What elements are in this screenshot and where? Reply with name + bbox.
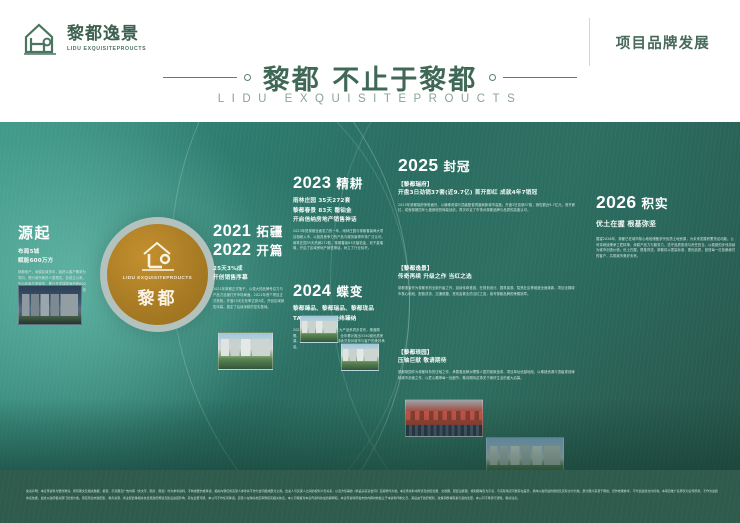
milestone-origin-sub: 布局5城 赋能600万方 [18,248,88,266]
milestone-2025-word: 封冠 [444,159,471,174]
page-footer: 免责声明：本宣传资料为要约邀请，所有图文及相关数据、模型、示意图及广告内容（含文… [0,470,740,523]
page-header: 黎都逸景 LIDU EXQUISITEPROUCTS 项目品牌发展 黎都 不止于… [0,0,740,122]
title-dot-right [489,74,496,81]
milestone-2022-word: 开篇 [256,243,283,258]
emblem-english-name: LIDU EXQUISITEPROUCTS [123,275,192,280]
photo-thumbnail [405,399,483,437]
photo-thumbnail [218,332,273,370]
milestone-2025-sub-2: 传奇再续 升级之作 当红之选 [398,273,578,282]
photo-thumbnail [300,315,338,343]
board-bottom-fade [0,398,740,470]
milestone-2025-tag-1: 【黎都瑞府】 [398,180,578,188]
milestone-2023-head: 2023精耕 [293,174,385,193]
center-emblem: LIDU EXQUISITEPROUCTS 黎都 [100,217,215,332]
milestone-2026-word: 积实 [642,196,669,211]
milestone-2025-body-2: 黎都逸景作为黎都系的全新升级之作，延续传奇基因，在规划设计、园林景观、智慧社区等… [398,286,578,298]
milestone-2023-word: 精耕 [336,176,363,191]
milestone-2025-head: 2025封冠 [398,155,578,176]
milestone-2022-year: 2022 [213,241,251,260]
milestone-2021-sub: 25天3%成 开创销售序幕 [213,265,285,283]
milestone-2026: 2026积实 优土在握 根基弥坚 展望2026年，黎都已在城市核心地段储备多宗优… [596,192,736,260]
title-dot-left [244,74,251,81]
timeline-board: LIDU EXQUISITEPROUCTS 黎都 源起 布局5城 赋能600万方… [0,122,740,470]
milestone-2026-year: 2026 [596,192,637,212]
photo-thumbnail [18,285,82,325]
brand-logo[interactable]: 黎都逸景 LIDU EXQUISITEPROUCTS [22,22,146,56]
emblem-disc: LIDU EXQUISITEPROUCTS 黎都 [107,224,208,325]
title-rule-right [503,77,577,78]
milestone-origin-title: 源起 [18,222,88,243]
milestone-2023-body: 2023年是黎都全面发力的一年，雨林庄园与黎都春景两大项目相继入市，以极具竞争力… [293,229,385,252]
page-subtitle: LIDU EXQUISITEPROUCTS [0,93,740,105]
brand-name-en: LIDU EXQUISITEPROUCTS [67,47,146,52]
milestone-2023: 2023精耕 雨林庄园 35天272套 黎都春景 83天 罄铂金 开启信纳房地产… [293,174,385,252]
title-rule-left [163,77,237,78]
milestone-2026-sub: 优土在握 根基弥坚 [596,219,736,231]
milestone-2025-body-3: 黎都琅园作为黎都体系的压轴之作，承载着品牌对理想人居的极致追求。项目择址优越地段… [398,370,578,382]
photo-thumbnail [486,437,564,470]
milestone-2021-year: 2021 [213,222,251,241]
emblem-house-icon [138,240,178,272]
milestone-2025-sub-3: 压轴巨献 敬请期待 [398,357,578,366]
brand-name-cn: 黎都逸景 [67,26,146,43]
milestone-2025-tag-3: 【黎都琅园】 [398,348,578,356]
photo-thumbnail [341,343,379,371]
milestone-2021-head: 2021拓疆 [213,222,285,241]
house-logo-icon [22,22,58,56]
milestone-2024-word: 蝶变 [336,284,363,299]
milestone-2021-word: 拓疆 [256,224,283,239]
milestone-2026-head: 2026积实 [596,192,736,213]
milestone-2022-head: 2022开篇 [213,241,285,260]
emblem-chinese-name: 黎都 [138,284,178,309]
milestone-2026-body: 展望2026年，黎都已在城市核心地段储备多宗优质土地资源，为未来发展积蓄充足动能… [596,237,736,260]
milestone-2021-body: 2021年黎都正式落子，以强大的品牌号召力与产品力迅速打开市场局面。2022年首… [213,287,285,310]
legal-disclaimer: 免责声明：本宣传资料为要约邀请，所有图文及相关数据、模型、示意图及广告内容（含文… [26,488,718,502]
header-section-label: 项目品牌发展 [616,32,710,53]
milestone-2025-sub-1: 开盘3日劲销37套(近9.7亿) 首开即红 成就4年7销冠 [398,189,578,198]
milestone-2024-head: 2024蝶变 [293,282,385,301]
milestone-2025-year: 2025 [398,155,439,175]
milestone-2024-year: 2024 [293,282,331,301]
milestone-2025-tag-2: 【黎都逸景】 [398,264,578,272]
milestone-2023-sub: 雨林庄园 35天272套 黎都春景 83天 罄铂金 开启信纳房地产销售神话 [293,197,385,225]
milestone-2021-2022: 2021拓疆 2022开篇 25天3%成 开创销售序幕 2021年黎都正式落子，… [213,222,285,310]
milestone-2025-body-1: 2025年黎都瑞府惊艳面世，以臻稀资源与顶级配套再度刷新城市高度。开盘3日劲销3… [398,203,578,215]
page-title: 黎都 不止于黎都 [263,58,477,97]
milestone-2025: 2025封冠 【黎都瑞府】 开盘3日劲销37套(近9.7亿) 首开即红 成就4年… [398,155,578,382]
main-title-row: 黎都 不止于黎都 [0,58,740,97]
milestone-2023-year: 2023 [293,174,331,193]
